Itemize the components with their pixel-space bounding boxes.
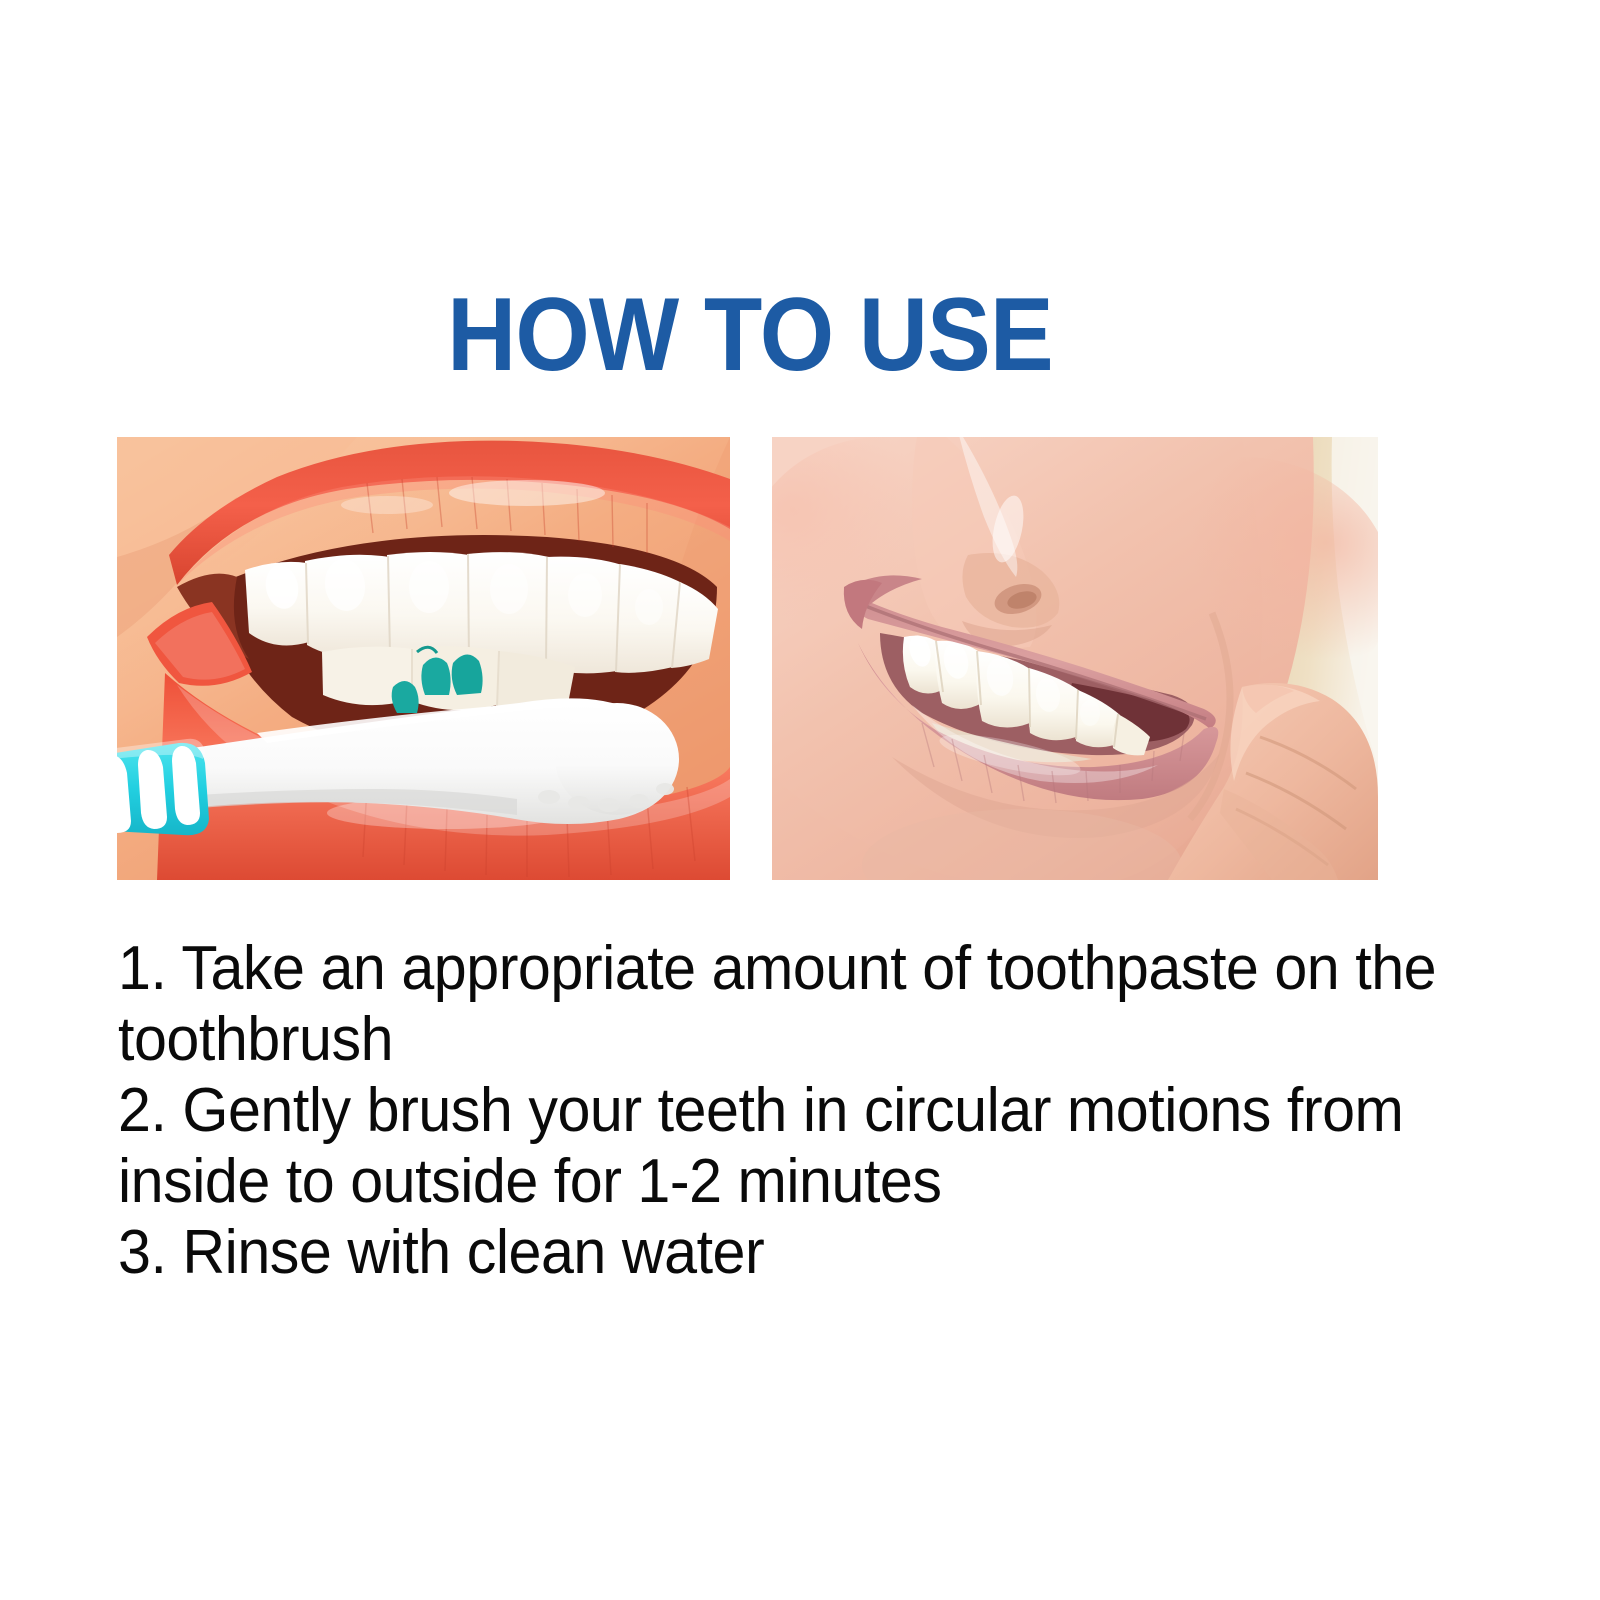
- instruction-step-3: 3. Rinse with clean water: [118, 1217, 1455, 1288]
- instruction-step-2: 2. Gently brush your teeth in circular m…: [118, 1075, 1455, 1217]
- smiling-woman-photo: [772, 437, 1378, 880]
- instruction-step-1: 1. Take an appropriate amount of toothpa…: [118, 933, 1455, 1075]
- brushing-teeth-photo: [117, 437, 730, 880]
- page-title: HOW TO USE: [60, 283, 1440, 387]
- how-to-use-infographic: HOW TO USE: [0, 0, 1600, 1600]
- instruction-list: 1. Take an appropriate amount of toothpa…: [118, 933, 1455, 1288]
